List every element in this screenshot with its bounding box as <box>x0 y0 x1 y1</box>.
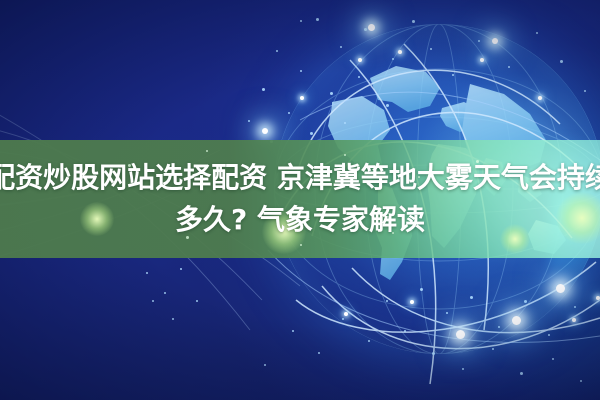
banner-image: 配资炒股网站选择配资 京津冀等地大雾天气会持续 多久? 气象专家解读 <box>0 0 600 400</box>
title-line-2: 多久? 气象专家解读 <box>175 201 425 239</box>
title-line-1: 配资炒股网站选择配资 京津冀等地大雾天气会持续 <box>0 159 600 197</box>
page-title: 配资炒股网站选择配资 京津冀等地大雾天气会持续 多久? 气象专家解读 <box>0 140 600 258</box>
